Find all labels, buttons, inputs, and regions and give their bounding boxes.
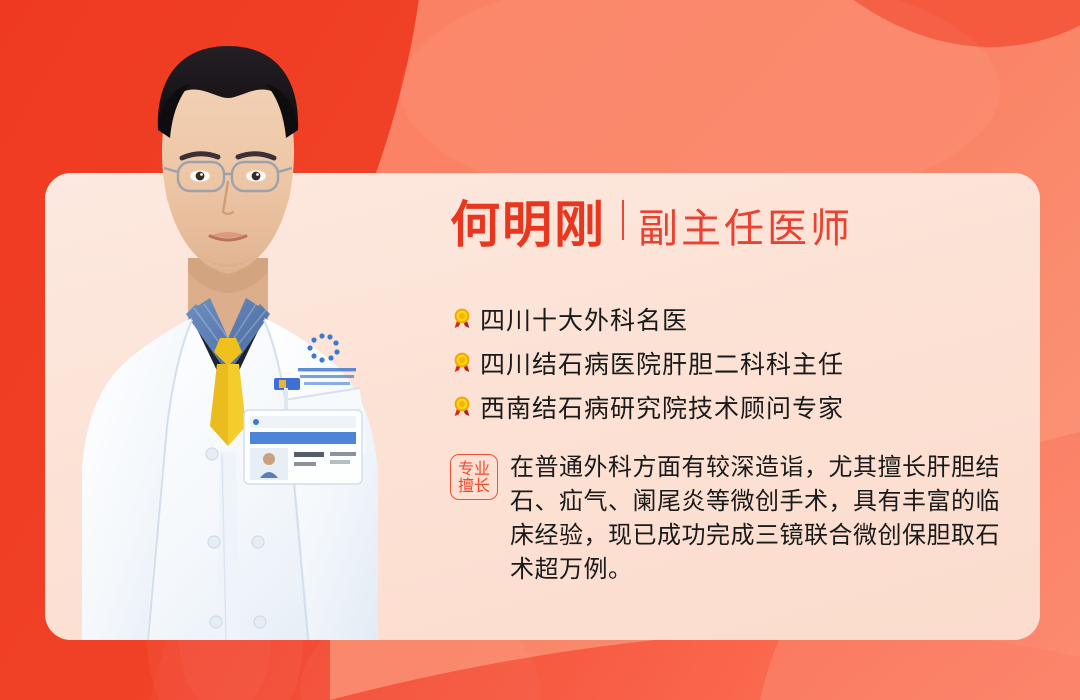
- list-item: 四川十大外科名医: [450, 300, 1010, 338]
- credentials-list: 四川十大外科名医 四川结石病医院肝胆二科科主任 西南结石病研究院技术顾问专家: [450, 300, 1010, 426]
- name-row: 何明刚 副主任医师: [450, 200, 1010, 274]
- medal-icon: [450, 351, 474, 375]
- specialty-badge-line1: 专业: [458, 460, 490, 477]
- specialty-section: 专业 擅长 在普通外科方面有较深造诣，尤其擅长肝胆结石、疝气、阑尾炎等微创手术，…: [450, 450, 1010, 586]
- doctor-name: 何明刚: [450, 200, 606, 250]
- specialty-description: 在普通外科方面有较深造诣，尤其擅长肝胆结石、疝气、阑尾炎等微创手术，具有丰富的临…: [510, 450, 1010, 586]
- list-item: 四川结石病医院肝胆二科科主任: [450, 344, 1010, 382]
- medal-icon: [450, 395, 474, 419]
- credential-text: 西南结石病研究院技术顾问专家: [480, 389, 844, 425]
- medal-icon: [450, 307, 474, 331]
- credential-text: 四川十大外科名医: [480, 301, 688, 337]
- list-item: 西南结石病研究院技术顾问专家: [450, 388, 1010, 426]
- specialty-badge: 专业 擅长: [450, 454, 498, 500]
- credential-text: 四川结石病医院肝胆二科科主任: [480, 345, 844, 381]
- doctor-info: 何明刚 副主任医师 四川十大外科名医 四川结石病医院肝胆二科科主任: [450, 200, 1010, 586]
- doctor-portrait: [60, 22, 420, 640]
- specialty-badge-line2: 擅长: [458, 477, 490, 494]
- name-divider: [622, 200, 624, 240]
- doctor-title: 副主任医师: [638, 209, 853, 249]
